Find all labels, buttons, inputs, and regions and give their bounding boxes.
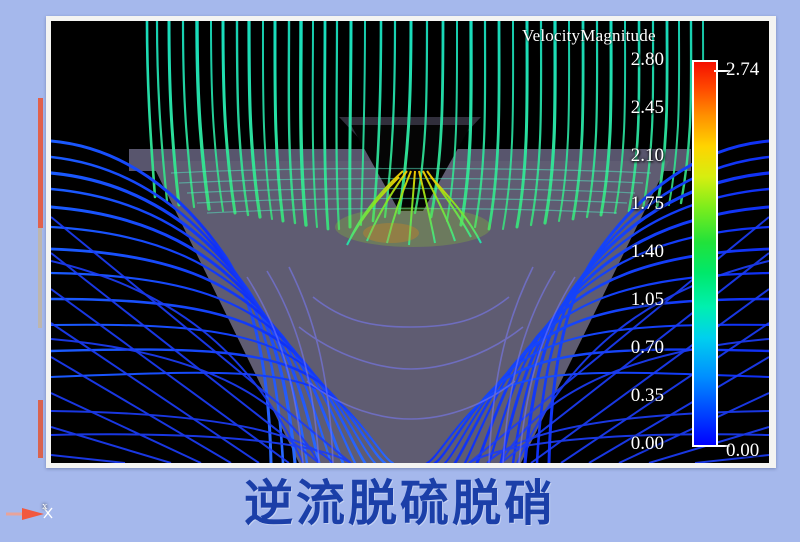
colorbar-tick-label: 0.00 (590, 433, 678, 455)
colorbar: VelocityMagnitude 2.80 2.45 2.10 1.75 1.… (600, 26, 770, 456)
colorbar-title: VelocityMagnitude (522, 26, 772, 46)
slide-page: VelocityMagnitude 2.80 2.45 2.10 1.75 1.… (0, 0, 800, 542)
colorbar-max-label: 2.74 (726, 59, 759, 81)
colorbar-tick-label: 2.80 (590, 49, 678, 71)
colorbar-tick-label: 1.40 (590, 241, 678, 263)
colorbar-tick-label: 1.05 (590, 289, 678, 311)
left-margin-strip-gray (38, 228, 42, 328)
left-margin-strip-red (38, 98, 43, 228)
colorbar-tick-label: 2.10 (590, 145, 678, 167)
colorbar-gradient (692, 60, 718, 447)
slide-caption: 逆流脱硫脱硝 (0, 472, 800, 536)
colorbar-tick-label: 1.75 (590, 193, 678, 215)
colorbar-min-label: 0.00 (726, 440, 759, 462)
colorbar-tick-label: 2.45 (590, 97, 678, 119)
nozzle-hotspot-core (363, 223, 419, 243)
left-margin-strip-red-lower (38, 400, 43, 458)
colorbar-tick-label: 0.70 (590, 337, 678, 359)
colorbar-tick-label: 0.35 (590, 385, 678, 407)
